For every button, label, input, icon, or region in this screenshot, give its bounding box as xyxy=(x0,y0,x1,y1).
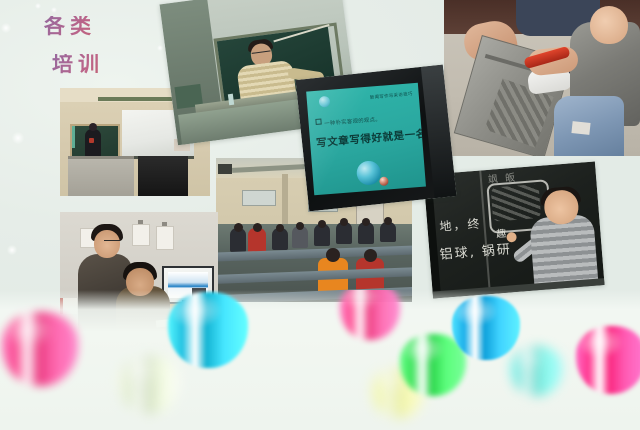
paper-clip xyxy=(138,220,143,224)
student-head xyxy=(364,249,377,262)
photo-presentation-slide: 新闻写作与采访技巧 一种朴实客观的观点。 写文章写得好就是一名好记者 xyxy=(296,65,457,212)
student-figure xyxy=(380,222,396,242)
wall-speaker xyxy=(218,164,232,174)
student-head xyxy=(362,218,370,226)
photo-equipment-repair xyxy=(444,0,640,156)
ceiling-beam xyxy=(98,97,178,101)
wall-note xyxy=(156,226,174,250)
wall-note xyxy=(132,224,150,246)
title-line-2: 培训 xyxy=(52,54,154,75)
chalk-text-top: 飒 皈 xyxy=(487,169,517,186)
lantern-highlight xyxy=(510,346,562,396)
student-head xyxy=(318,220,326,228)
screen-glare xyxy=(306,83,426,195)
wall-vent-1 xyxy=(242,190,276,206)
chalk-text-line-1: 地，终 xyxy=(439,215,482,235)
lantern-pink-right xyxy=(576,326,640,394)
lantern-highlight xyxy=(340,290,400,340)
lantern-highlight xyxy=(576,326,640,394)
podium xyxy=(68,156,134,196)
lantern-teal-small xyxy=(510,346,562,396)
paper-clip xyxy=(162,222,167,226)
lantern-decoration-band xyxy=(0,290,640,430)
lantern-pink-left xyxy=(2,312,78,386)
student-head xyxy=(384,217,392,225)
cabinet xyxy=(138,156,188,196)
student-head xyxy=(234,223,243,232)
lantern-highlight xyxy=(2,312,78,386)
instructor-figure xyxy=(85,129,101,157)
slide-surface: 新闻写作与采访技巧 一种朴实客观的观点。 写文章写得好就是一名好记者 xyxy=(306,83,426,195)
chalk-tube xyxy=(72,126,75,148)
standing-student-glasses xyxy=(104,240,120,245)
red-object xyxy=(89,138,94,143)
collage-page: 各类 培训 xyxy=(0,0,640,430)
student-face xyxy=(590,6,628,44)
page-title: 各类 培训 xyxy=(44,16,154,75)
lantern-teal-upper xyxy=(168,292,248,368)
student-head xyxy=(296,222,304,230)
lantern-pink-mid xyxy=(340,290,400,340)
title-line-1: 各类 xyxy=(44,16,154,37)
student-head xyxy=(253,223,262,232)
lantern-highlight xyxy=(168,292,248,368)
floor-tile-marker xyxy=(571,121,590,135)
student-head xyxy=(276,224,284,232)
student-head xyxy=(326,248,340,262)
student-head xyxy=(340,218,348,226)
